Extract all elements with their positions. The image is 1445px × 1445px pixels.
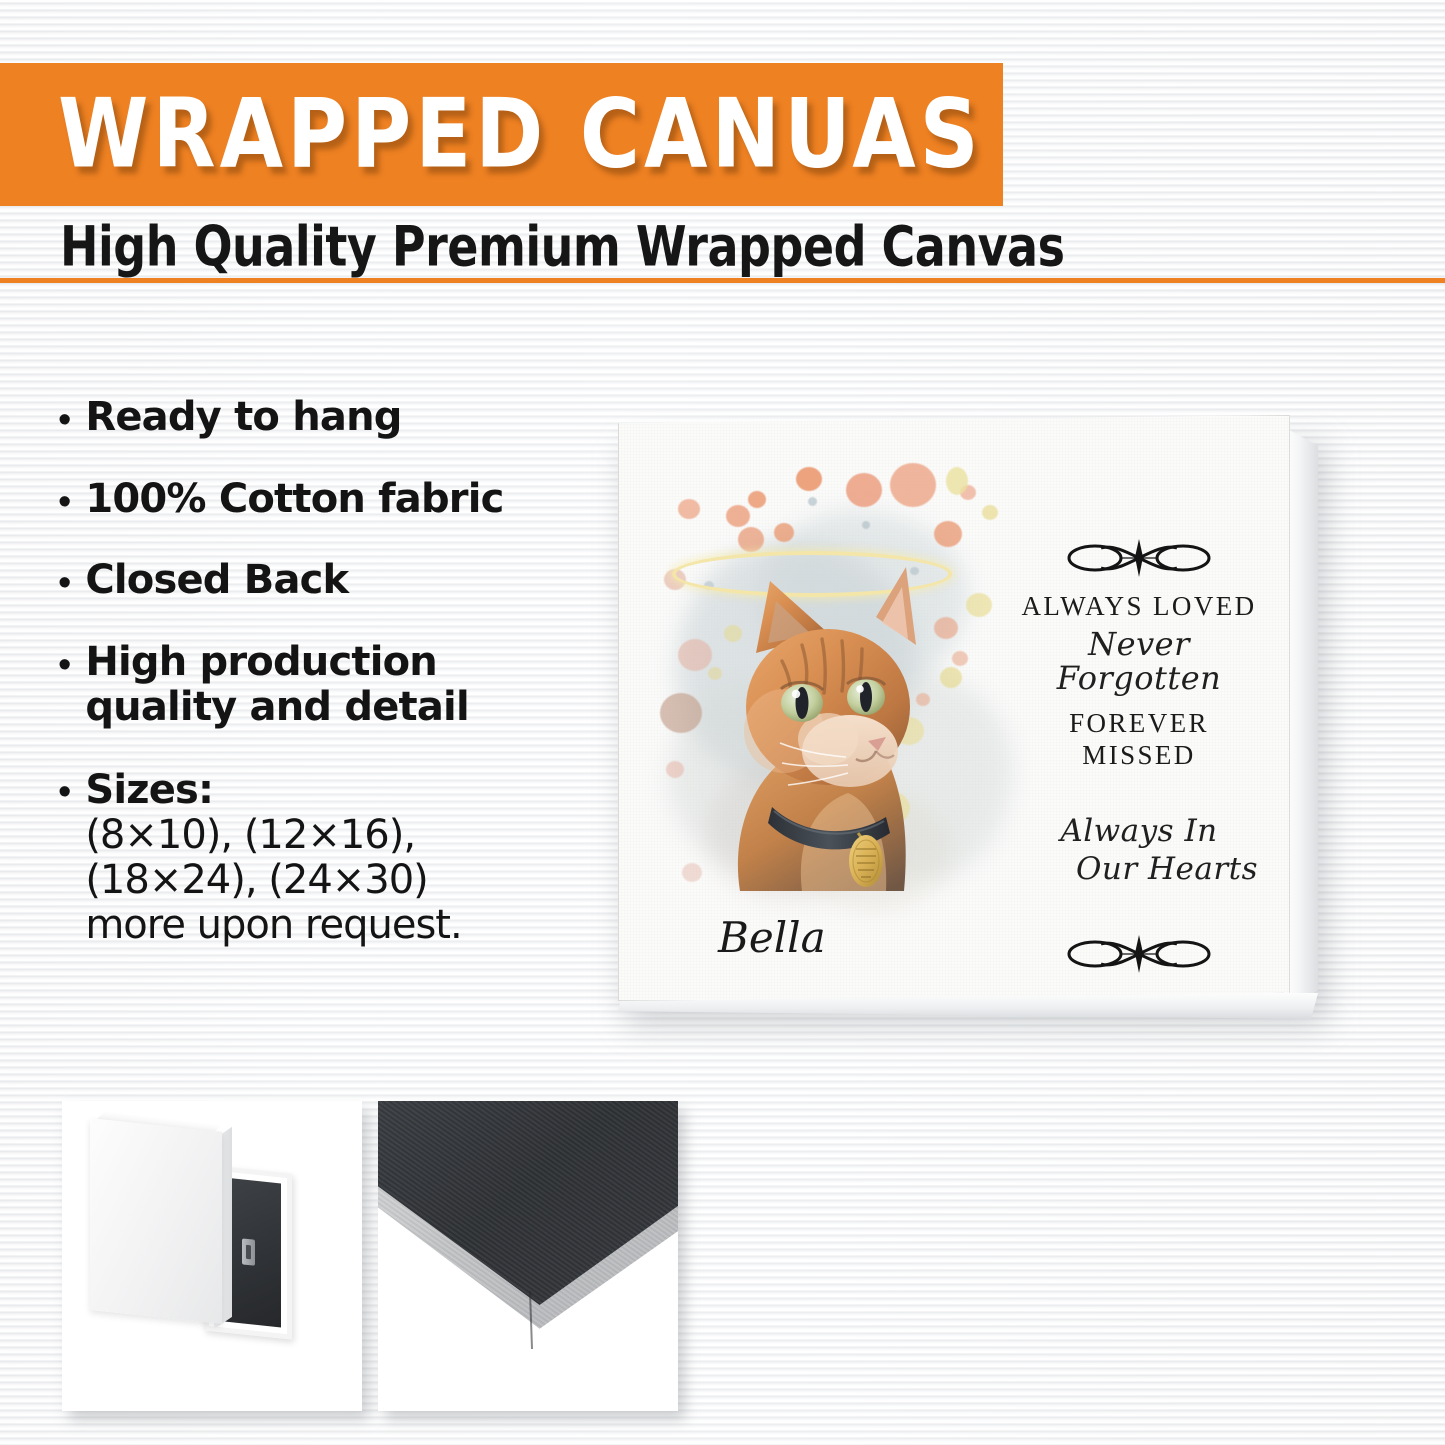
list-item: • Ready to hang <box>58 395 598 441</box>
canvas-blank-front <box>90 1118 222 1324</box>
canvas-corner-back-surface <box>378 1101 678 1305</box>
canvas-front-and-closed-back-photo <box>62 1101 362 1411</box>
memorial-text-block: ALWAYS LOVED Never Forgotten FOREVER MIS… <box>1014 537 1264 975</box>
pet-name: Bella <box>718 913 826 962</box>
bullet-icon: • <box>58 483 71 521</box>
feature-label: Ready to hang <box>85 395 401 441</box>
memorial-line-4a: Always In <box>1060 813 1217 849</box>
canvas-print-face: ALWAYS LOVED Never Forgotten FOREVER MIS… <box>618 415 1290 1001</box>
memorial-line-4b: Our Hearts <box>1014 851 1264 889</box>
memorial-line-2: Never Forgotten <box>1014 627 1264 696</box>
canvas-product-mockup: ALWAYS LOVED Never Forgotten FOREVER MIS… <box>612 415 1342 1040</box>
page-title: WRAPPED CANUAS <box>58 87 983 182</box>
list-item: • High production quality and detail <box>58 640 598 731</box>
memorial-line-1: ALWAYS LOVED <box>1014 591 1264 623</box>
subtitle: High Quality Premium Wrapped Canvas <box>60 214 1064 279</box>
bullet-icon: • <box>58 401 71 439</box>
feature-list: • Ready to hang • 100% Cotton fabric • C… <box>58 395 598 985</box>
canvas-corner-closeup-photo <box>378 1101 678 1411</box>
product-photo-gallery <box>62 1101 682 1411</box>
cat-portrait-illustration <box>710 561 950 891</box>
memorial-line-3: FOREVER MISSED <box>1014 708 1264 772</box>
bullet-icon: • <box>58 773 71 811</box>
list-item: • 100% Cotton fabric <box>58 477 598 523</box>
back-surface-grain <box>378 1101 678 1305</box>
sizes-label: Sizes: <box>85 767 461 813</box>
infographic-page: WRAPPED CANUAS High Quality Premium Wrap… <box>0 0 1445 1445</box>
bullet-icon: • <box>58 564 71 602</box>
sizes-values: (8×10), (12×16), (18×24), (24×30) more u… <box>85 813 461 949</box>
divider-rule <box>0 278 1445 283</box>
feature-label: High production quality and detail <box>85 640 469 731</box>
list-item-sizes: • Sizes: (8×10), (12×16), (18×24), (24×3… <box>58 767 598 949</box>
list-item: • Closed Back <box>58 558 598 604</box>
feature-label: Closed Back <box>85 558 348 604</box>
flourish-ornament-top-icon <box>1059 537 1219 579</box>
hanging-bracket-icon <box>242 1238 255 1265</box>
flourish-ornament-bottom-icon <box>1059 933 1219 975</box>
sizes-group: Sizes: (8×10), (12×16), (18×24), (24×30)… <box>85 767 461 949</box>
memorial-line-4: Always In Our Hearts <box>1014 776 1264 927</box>
feature-label: 100% Cotton fabric <box>85 477 503 523</box>
header-banner: WRAPPED CANUAS <box>0 63 1003 206</box>
bullet-icon: • <box>58 646 71 684</box>
